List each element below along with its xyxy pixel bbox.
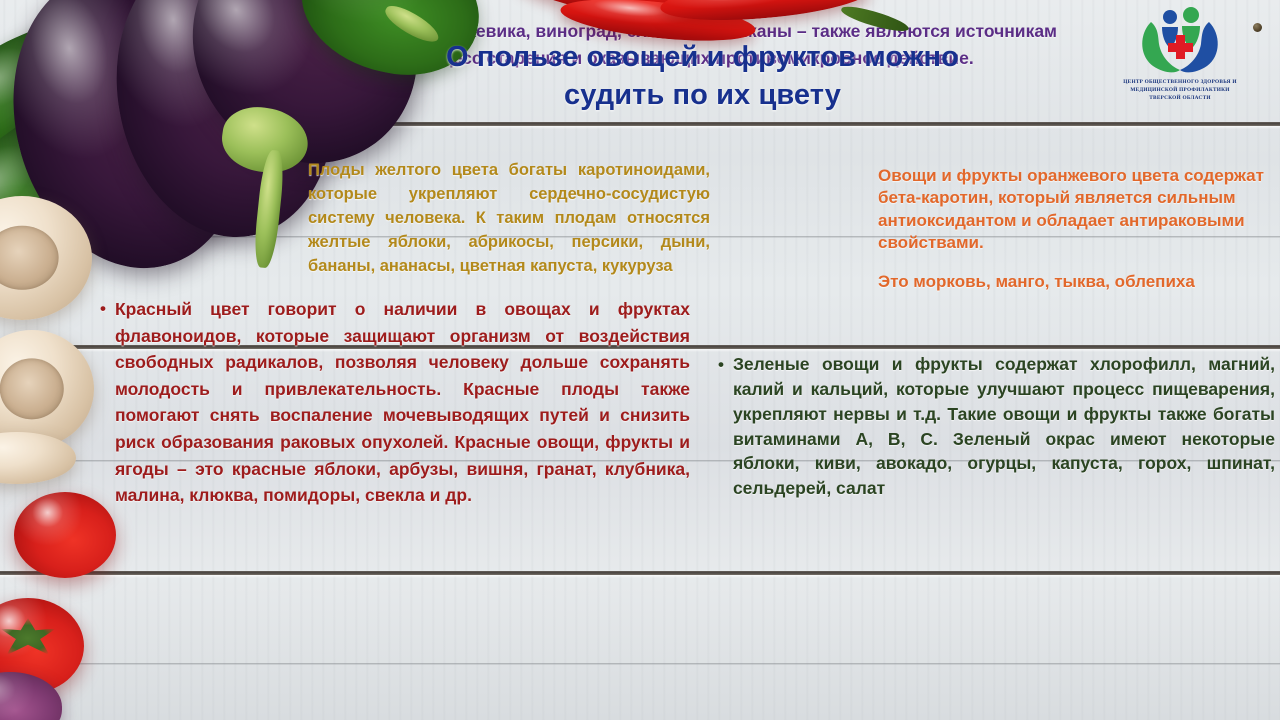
red-fruits-paragraph: Красный цвет говорит о наличии в овощах … (115, 296, 690, 509)
logo-caption-line-1: ЦЕНТР ОБЩЕСТВЕННОГО ЗДОРОВЬЯ И (1096, 79, 1264, 87)
plank-seam-3 (0, 571, 1280, 575)
green-fruits-paragraph: Зеленые овощи и фрукты содержат хлорофил… (733, 352, 1275, 501)
organization-logo: ЦЕНТР ОБЩЕСТВЕННОГО ЗДОРОВЬЯ И МЕДИЦИНСК… (1096, 4, 1264, 103)
eggplant-stem-icon (218, 102, 312, 177)
logo-mark-icon (1137, 4, 1223, 78)
green-fruits-text-block: • Зеленые овощи и фрукты содержат хлороф… (718, 352, 1275, 501)
orange-fruits-paragraph: Овощи и фрукты оранжевого цвета содержат… (878, 165, 1268, 255)
orange-fruits-examples: Это морковь, манго, тыква, облепиха (878, 271, 1268, 293)
mushroom (0, 330, 94, 448)
red-onion (0, 672, 62, 720)
bullet-point-icon: • (718, 352, 724, 378)
logo-caption-line-2: МЕДИЦИНСКОЙ ПРОФИЛАКТИКИ (1096, 87, 1264, 95)
red-fruits-text-block: • Красный цвет говорит о наличии в овоща… (100, 296, 690, 509)
slide-title: О пользе овощей и фруктов можно судить п… (345, 38, 1060, 115)
plank-seam-1 (0, 122, 1280, 126)
tomato (0, 598, 84, 694)
orange-fruits-text-block: Овощи и фрукты оранжевого цвета содержат… (878, 165, 1268, 293)
slide-title-line-1: О пользе овощей и фруктов можно (345, 38, 1060, 76)
plank-seam-6 (0, 663, 1280, 665)
bullet-point-icon: • (100, 296, 106, 322)
green-bell-pepper (0, 64, 173, 296)
eggplant-stem-icon (252, 149, 286, 269)
plank-seam-3-highlight (0, 575, 1280, 578)
pepper-stem-icon (121, 146, 216, 193)
slide-canvas: ЦЕНТР ОБЩЕСТВЕННОГО ЗДОРОВЬЯ И МЕДИЦИНСК… (0, 0, 1280, 720)
plank-seam-1-highlight (0, 126, 1280, 129)
mushroom (0, 432, 76, 484)
mushroom (0, 196, 92, 320)
logo-caption-line-3: ТВЕРСКОЙ ОБЛАСТИ (1096, 95, 1264, 103)
yellow-fruits-text-block: Плоды желтого цвета богаты каротиноидами… (308, 158, 710, 278)
yellow-fruits-paragraph: Плоды желтого цвета богаты каротиноидами… (308, 158, 710, 278)
slide-title-line-2: судить по их цвету (345, 76, 1060, 114)
